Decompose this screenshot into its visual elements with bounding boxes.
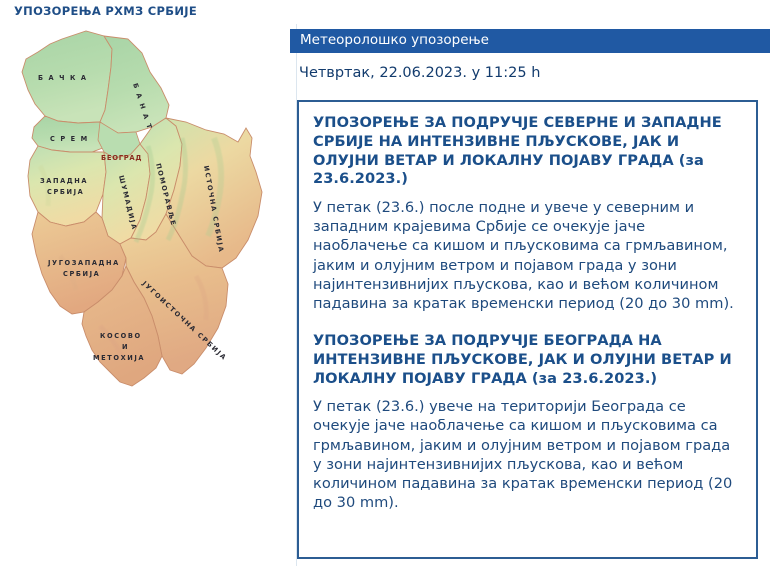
map-label-zapadna-srbija-line2: СРБИЈА bbox=[47, 188, 84, 196]
map-label-srem: С Р Е М bbox=[50, 135, 89, 143]
warning-body-north-west-serbia: У петак (23.6.) после подне и увече у се… bbox=[313, 198, 742, 313]
page-header: УПОЗОРЕЊА РХМЗ СРБИЈЕ bbox=[0, 0, 770, 24]
warning-bar: Метеоролошко упозорење bbox=[290, 29, 770, 53]
serbia-region-map: Б А Ч К А Б А Н А Т С Р Е М ЗАПАДНА СРБИ… bbox=[0, 26, 296, 446]
map-label-backa: Б А Ч К А bbox=[38, 74, 88, 82]
serbia-map-svg: Б А Ч К А Б А Н А Т С Р Е М ЗАПАДНА СРБИ… bbox=[0, 26, 296, 446]
warning-panel: УПОЗОРЕЊЕ ЗА ПОДРУЧЈЕ СЕВЕРНЕ И ЗАПАДНЕ … bbox=[297, 100, 758, 559]
map-label-zapadna-srbija: ЗАПАДНА bbox=[40, 177, 88, 185]
warning-title-north-west-serbia: УПОЗОРЕЊЕ ЗА ПОДРУЧЈЕ СЕВЕРНЕ И ЗАПАДНЕ … bbox=[313, 114, 742, 189]
map-label-jugozapadna-srbija-line2: СРБИЈА bbox=[63, 270, 100, 278]
map-label-kosovo: КОСОВО bbox=[100, 332, 142, 340]
warning-column: Метеоролошко упозорење Четвртак, 22.06.2… bbox=[290, 24, 770, 566]
warning-body-belgrade: У петак (23.6.) увече на територији Беог… bbox=[313, 397, 742, 512]
issued-datetime: Четвртак, 22.06.2023. у 11:25 h bbox=[299, 65, 540, 81]
warning-title-belgrade: УПОЗОРЕЊЕ ЗА ПОДРУЧЈЕ БЕОГРАДА НА ИНТЕНЗ… bbox=[313, 332, 742, 388]
map-label-beograd: БЕОГРАД bbox=[101, 154, 142, 162]
map-label-kosovo-line2: И bbox=[122, 343, 129, 351]
map-label-jugozapadna-srbija: ЈУГОЗАПАДНА bbox=[47, 259, 120, 267]
warning-bar-label: Метеоролошко упозорење bbox=[300, 32, 489, 48]
page-title: УПОЗОРЕЊА РХМЗ СРБИЈЕ bbox=[14, 4, 197, 18]
map-label-metohija: МЕТОХИЈА bbox=[93, 354, 145, 362]
